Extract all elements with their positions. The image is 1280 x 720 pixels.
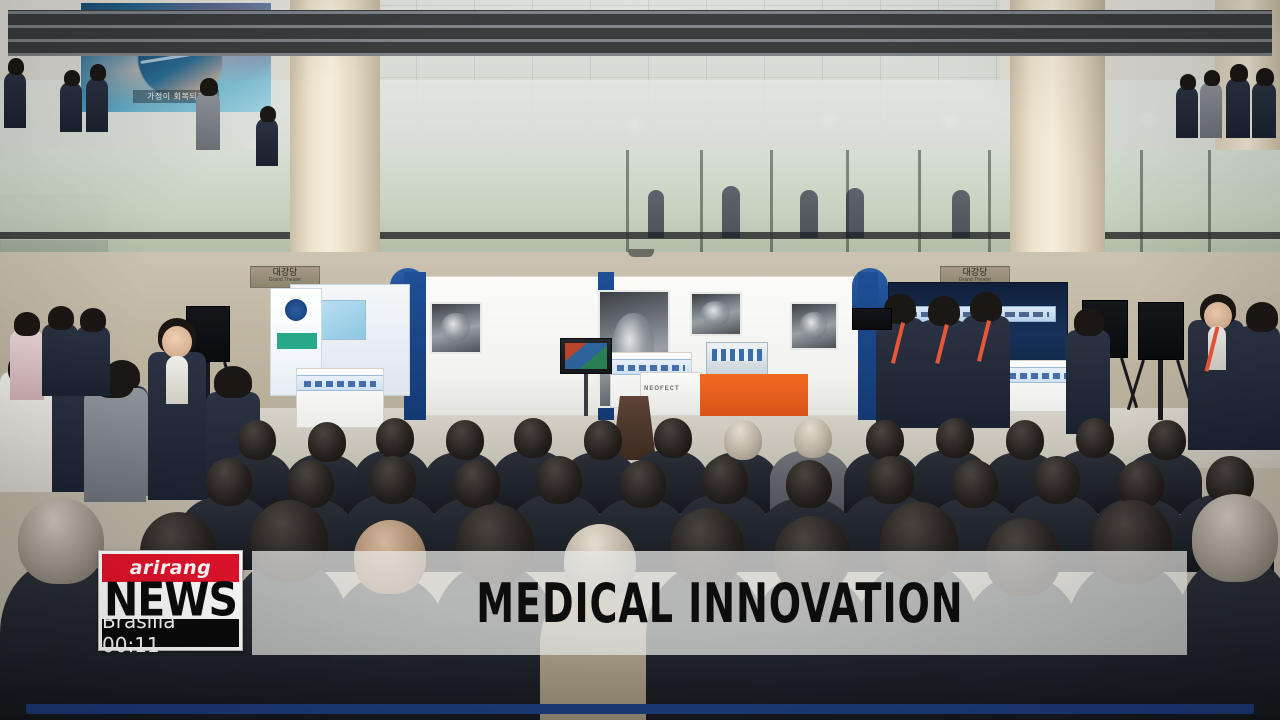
audience-head xyxy=(536,456,582,504)
audience-head xyxy=(1148,420,1186,460)
medical-imaging-display xyxy=(430,302,482,354)
observer-hair xyxy=(64,70,80,86)
audience-head xyxy=(206,458,252,506)
attendee-shirt xyxy=(166,356,188,404)
xray-image xyxy=(701,301,731,326)
observer-hair xyxy=(200,78,218,96)
program-name: NEWS xyxy=(104,580,237,621)
audience-head xyxy=(620,460,666,508)
attendee-face xyxy=(162,326,192,358)
mezzanine-observer xyxy=(256,118,278,166)
observer-hair xyxy=(1230,64,1248,82)
headline-text: MEDICAL INNOVATION xyxy=(476,571,963,635)
booth-pillar xyxy=(858,272,878,420)
audience-head xyxy=(702,456,748,504)
mezzanine-observer xyxy=(952,190,970,238)
standing-attendee xyxy=(42,324,78,396)
audience-head xyxy=(1076,418,1114,458)
standing-attendee xyxy=(84,390,146,502)
audience-head xyxy=(952,460,998,508)
audience-head xyxy=(936,418,974,458)
standing-attendee xyxy=(76,326,110,396)
pa-speaker xyxy=(1138,302,1184,360)
podium-banner xyxy=(297,375,383,391)
attendee-hair xyxy=(80,308,106,332)
audience-head xyxy=(1006,420,1044,460)
mezzanine-observer xyxy=(1176,86,1198,138)
glass-mullion xyxy=(770,150,773,255)
rollup-logo-icon xyxy=(285,299,307,321)
mezzanine-observer xyxy=(60,82,82,132)
broadcast-frame: 가정이 회복되고 대강당 Grand Theater 대강당 Grand The… xyxy=(0,0,1280,720)
attendee-hair xyxy=(14,312,40,336)
photographer-hair xyxy=(970,292,1002,322)
photographer-hair xyxy=(928,296,960,326)
mezzanine-observer xyxy=(800,190,818,238)
channel-logo-bug: arirang NEWS Brasilia 00:11 xyxy=(98,550,243,651)
audience-head xyxy=(454,460,500,508)
glass-mullion xyxy=(1208,150,1211,255)
audience-head xyxy=(1192,494,1278,582)
speaker-podium-left xyxy=(296,368,384,428)
mezzanine-observer xyxy=(648,190,664,238)
observer-hair xyxy=(8,58,24,75)
audience-head xyxy=(794,418,832,458)
speaker-stand xyxy=(1158,360,1163,420)
lower-third-banner: MEDICAL INNOVATION xyxy=(252,551,1187,655)
audience-head xyxy=(370,456,416,504)
glass-mullion xyxy=(626,150,629,255)
audience-head xyxy=(868,456,914,504)
audience-head xyxy=(584,420,622,460)
mezzanine-observer xyxy=(1226,78,1250,138)
video-camera xyxy=(852,308,892,330)
attendee-hair xyxy=(1074,308,1104,336)
audience-head xyxy=(18,498,104,584)
medical-imaging-display xyxy=(690,292,742,336)
xray-image xyxy=(441,313,471,343)
glass-mullion xyxy=(918,150,921,255)
observer-hair xyxy=(1256,68,1274,86)
hall-sign-left-en: Grand Theater xyxy=(251,278,319,283)
mezzanine-observer xyxy=(1252,82,1276,138)
audience-head xyxy=(786,460,832,508)
audience-head xyxy=(514,418,552,458)
neofect-table-label: NEOFECT xyxy=(644,386,680,392)
glass-mullion xyxy=(1140,150,1143,255)
mezzanine-observer xyxy=(1200,82,1222,138)
xray-image xyxy=(800,312,827,339)
audience-head xyxy=(866,420,904,460)
program-name-block: NEWS xyxy=(99,582,242,619)
glass-mullion xyxy=(988,150,991,255)
audience-head xyxy=(654,418,692,458)
audience-head xyxy=(1034,456,1080,504)
observer-hair xyxy=(1204,70,1220,86)
monitor-cart-pole xyxy=(584,374,588,416)
mezzanine-observer xyxy=(4,72,26,128)
mezzanine-observer xyxy=(722,186,740,238)
observer-hair xyxy=(260,106,276,122)
glass-mullion xyxy=(700,150,703,255)
demo-device xyxy=(706,342,768,376)
audience-head xyxy=(446,420,484,460)
audience-head xyxy=(376,418,414,458)
attendee-hair xyxy=(1246,302,1278,332)
observer-hair xyxy=(1180,74,1196,90)
observer-hair xyxy=(90,64,106,81)
audience-head xyxy=(308,422,346,462)
attendee-hair xyxy=(214,366,252,398)
rollup-text-bar xyxy=(277,333,317,349)
mezzanine-observer xyxy=(196,92,220,150)
standing-attendee xyxy=(10,330,44,400)
mezzanine-observer xyxy=(86,78,108,132)
demo-monitor xyxy=(560,338,612,374)
demo-table-orange xyxy=(700,374,808,416)
attendee-hair xyxy=(48,306,74,330)
medical-imaging-display xyxy=(790,302,838,350)
audience-head xyxy=(724,420,762,460)
standing-attendee xyxy=(1238,326,1280,450)
audience-head xyxy=(238,420,276,460)
mezzanine-observer xyxy=(846,188,864,238)
video-wall-mount xyxy=(628,249,654,257)
